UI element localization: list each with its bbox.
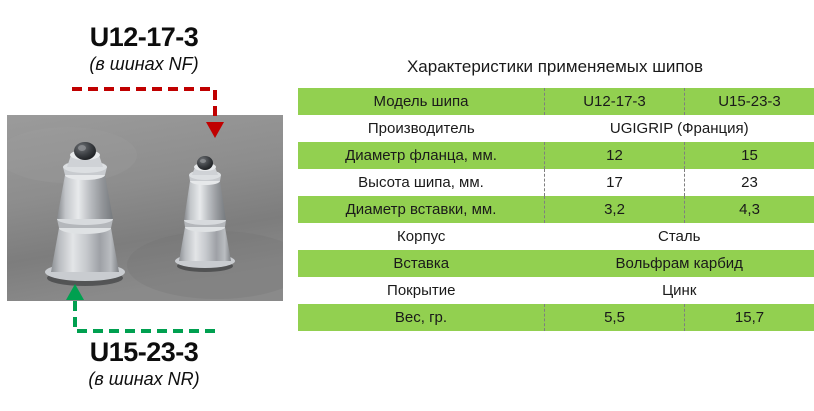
specs-table-body: Модель шипа U12-17-3 U15-23-3 Производит… — [298, 88, 814, 331]
row-label: Вставка — [298, 250, 545, 277]
row-value-a: U12-17-3 — [545, 88, 685, 115]
callout-top-code: U12-17-3 — [0, 22, 288, 52]
row-value-merged: Цинк — [545, 277, 814, 304]
callout-bottom-note: (в шинах NR) — [0, 367, 288, 391]
row-label: Производитель — [298, 115, 545, 142]
row-value-b: 4,3 — [685, 196, 814, 223]
table-row: Модель шипа U12-17-3 U15-23-3 — [298, 88, 814, 115]
callout-bottom-code: U15-23-3 — [0, 337, 288, 367]
row-value-b: U15-23-3 — [685, 88, 814, 115]
table-row: Покрытие Цинк — [298, 277, 814, 304]
callout-bottom: U15-23-3 (в шинах NR) — [0, 337, 288, 391]
row-label: Покрытие — [298, 277, 545, 304]
row-value-a: 12 — [545, 142, 685, 169]
row-value-a: 17 — [545, 169, 685, 196]
slide-canvas: U12-17-3 (в шинах NF) — [0, 0, 814, 411]
row-label: Диаметр вставки, мм. — [298, 196, 545, 223]
row-value-merged: Сталь — [545, 223, 814, 250]
row-value-merged: UGIGRIP (Франция) — [545, 115, 814, 142]
callout-top: U12-17-3 (в шинах NF) — [0, 22, 288, 76]
table-row: Вставка Вольфрам карбид — [298, 250, 814, 277]
callout-top-note: (в шинах NF) — [0, 52, 288, 76]
row-value-a: 3,2 — [545, 196, 685, 223]
row-value-b: 15 — [685, 142, 814, 169]
row-label: Высота шипа, мм. — [298, 169, 545, 196]
row-label: Диаметр фланца, мм. — [298, 142, 545, 169]
table-row: Производитель UGIGRIP (Франция) — [298, 115, 814, 142]
row-value-a: 5,5 — [545, 304, 685, 331]
row-value-b: 23 — [685, 169, 814, 196]
row-value-merged: Вольфрам карбид — [545, 250, 814, 277]
row-label: Корпус — [298, 223, 545, 250]
table-row: Диаметр вставки, мм. 3,2 4,3 — [298, 196, 814, 223]
table-row: Вес, гр. 5,5 15,7 — [298, 304, 814, 331]
table-row: Корпус Сталь — [298, 223, 814, 250]
studs-photo — [7, 115, 283, 301]
row-label: Вес, гр. — [298, 304, 545, 331]
studs-photo-graphic — [7, 115, 283, 301]
row-value-b: 15,7 — [685, 304, 814, 331]
table-row: Диаметр фланца, мм. 12 15 — [298, 142, 814, 169]
specs-table: Модель шипа U12-17-3 U15-23-3 Производит… — [298, 88, 814, 331]
table-row: Высота шипа, мм. 17 23 — [298, 169, 814, 196]
table-title: Характеристики применяемых шипов — [298, 57, 812, 77]
row-label: Модель шипа — [298, 88, 545, 115]
